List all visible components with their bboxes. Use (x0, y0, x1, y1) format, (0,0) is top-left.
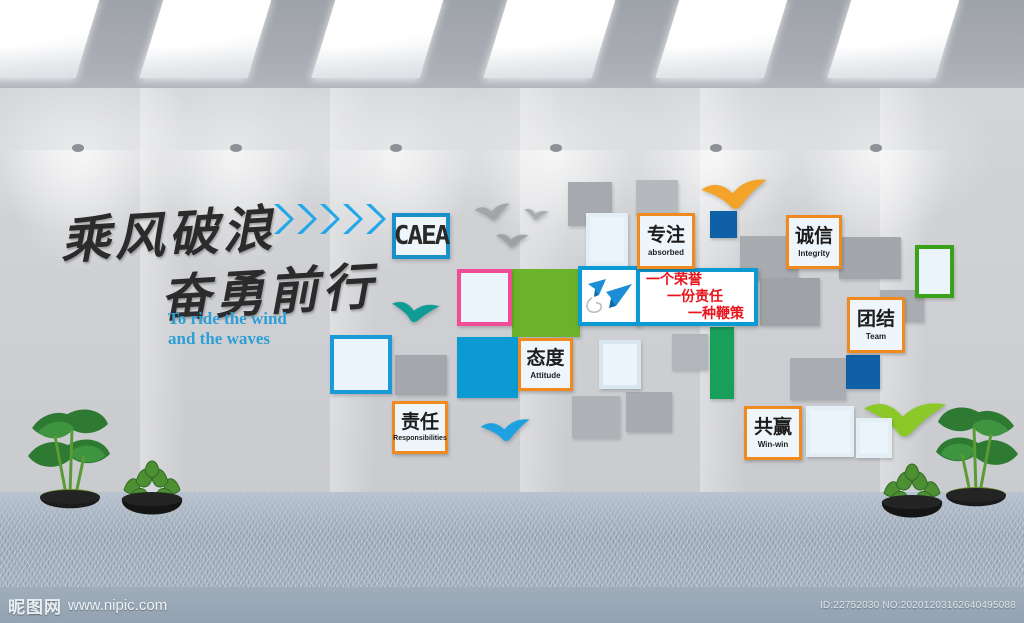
watermark-bar: 昵图网 www.nipic.com ID:22752030 NO:2020120… (0, 587, 1024, 623)
nipic-url: www.nipic.com (68, 597, 167, 614)
image-id-text: ID:22752030 NO:20201203162640495088 (820, 600, 1016, 611)
succulent-plant (112, 452, 192, 531)
monstera-plant (928, 396, 1024, 519)
nipic-logo: 昵图网 (8, 593, 62, 618)
monstera-plant (22, 398, 118, 521)
plants-group (0, 0, 1024, 623)
office-wall-scene: CAEA一个荣誉一份责任一种鞭策专注absorbed诚信Integrity团结T… (0, 0, 1024, 623)
